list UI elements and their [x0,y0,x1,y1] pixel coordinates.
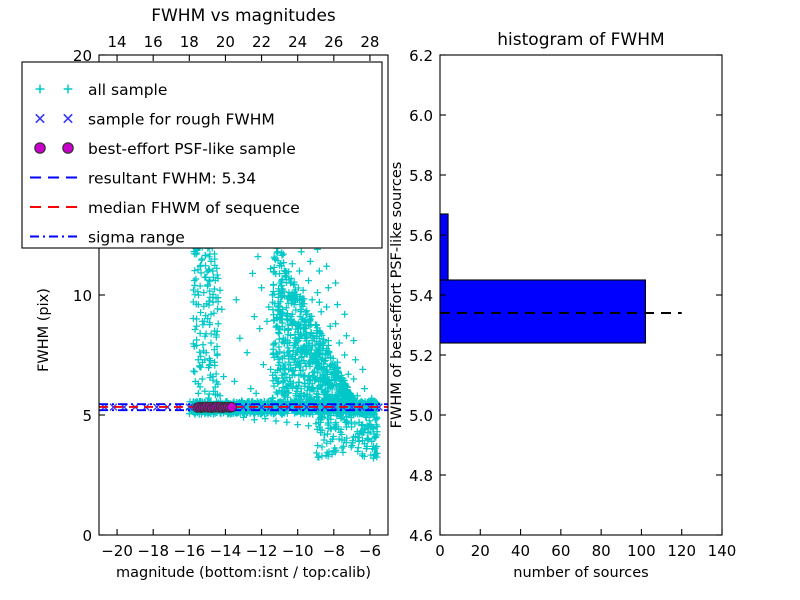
legend-item-label: sample for rough FWHM [88,111,275,129]
left-bottom-tick-label: −20 [101,542,133,560]
right-panel-xlabel: number of sources [513,565,649,581]
left-bottom-tick-label: −16 [173,542,205,560]
right-y-tick-label: 5.6 [409,227,433,245]
right-x-tick-label: 120 [667,542,696,560]
left-top-tick-label: 22 [252,33,271,51]
legend-item-label: best-effort PSF-like sample [88,140,296,158]
right-x-tick-label: 20 [471,542,490,560]
right-y-tick-label: 5.8 [409,167,433,185]
left-y-tick-label: 0 [82,527,92,545]
right-x-tick-label: 0 [435,542,445,560]
legend-item-label: median FHWM of sequence [88,199,300,217]
left-panel-ylabel: FWHM (pix) [36,288,52,372]
legend-item-label: sigma range [88,229,185,247]
left-bottom-tick-label: −18 [137,542,169,560]
left-y-tick-label: 5 [82,407,92,425]
left-top-tick-label: 26 [324,33,343,51]
right-y-tick-label: 4.8 [409,467,433,485]
right-y-tick-label: 6.0 [409,107,433,125]
left-top-tick-label: 16 [144,33,163,51]
right-y-tick-label: 5.0 [409,407,433,425]
right-y-tick-label: 5.2 [409,347,433,365]
left-bottom-tick-label: −6 [359,542,381,560]
left-y-tick-label: 10 [73,287,92,305]
histogram-bar [440,214,448,280]
left-bottom-tick-label: −14 [210,542,242,560]
legend-marker-dot-icon [63,143,73,153]
scatter-marker-dot [227,402,236,411]
matplotlib-figure: FWHM vs magnitudes −20−18−16−14−12−10−8−… [0,0,800,600]
right-panel-ylabel: FWHM of best-effort PSF-like sources [389,162,405,429]
histogram-bar [440,280,645,343]
figure-canvas: FWHM vs magnitudes −20−18−16−14−12−10−8−… [0,0,800,600]
left-panel-xlabel: magnitude (bottom:isnt / top:calib) [116,565,371,581]
right-x-tick-label: 100 [627,542,656,560]
right-x-tick-label: 60 [551,542,570,560]
right-y-tick-label: 6.2 [409,47,433,65]
legend: all samplesample for rough FWHMbest-effo… [22,62,382,248]
right-y-tick-label: 4.6 [409,527,433,545]
right-x-tick-label: 140 [708,542,737,560]
left-bottom-tick-label: −8 [323,542,345,560]
left-top-tick-label: 14 [108,33,127,51]
left-top-tick-label: 24 [288,33,307,51]
left-top-tick-label: 20 [216,33,235,51]
right-x-tick-label: 40 [511,542,530,560]
left-bottom-tick-label: −12 [246,542,278,560]
series-best-effort-psf-like-sample [193,402,237,412]
left-bottom-tick-label: −10 [282,542,314,560]
legend-item-label: resultant FWHM: 5.34 [88,170,256,188]
left-top-tick-label: 28 [360,33,379,51]
legend-item-label: all sample [88,81,167,99]
right-panel-title: histogram of FWHM [497,30,664,50]
right-x-tick-label: 80 [592,542,611,560]
left-top-tick-label: 18 [180,33,199,51]
legend-marker-dot-icon [35,143,45,153]
right-y-tick-label: 5.4 [409,287,433,305]
left-panel-title: FWHM vs magnitudes [151,6,336,26]
